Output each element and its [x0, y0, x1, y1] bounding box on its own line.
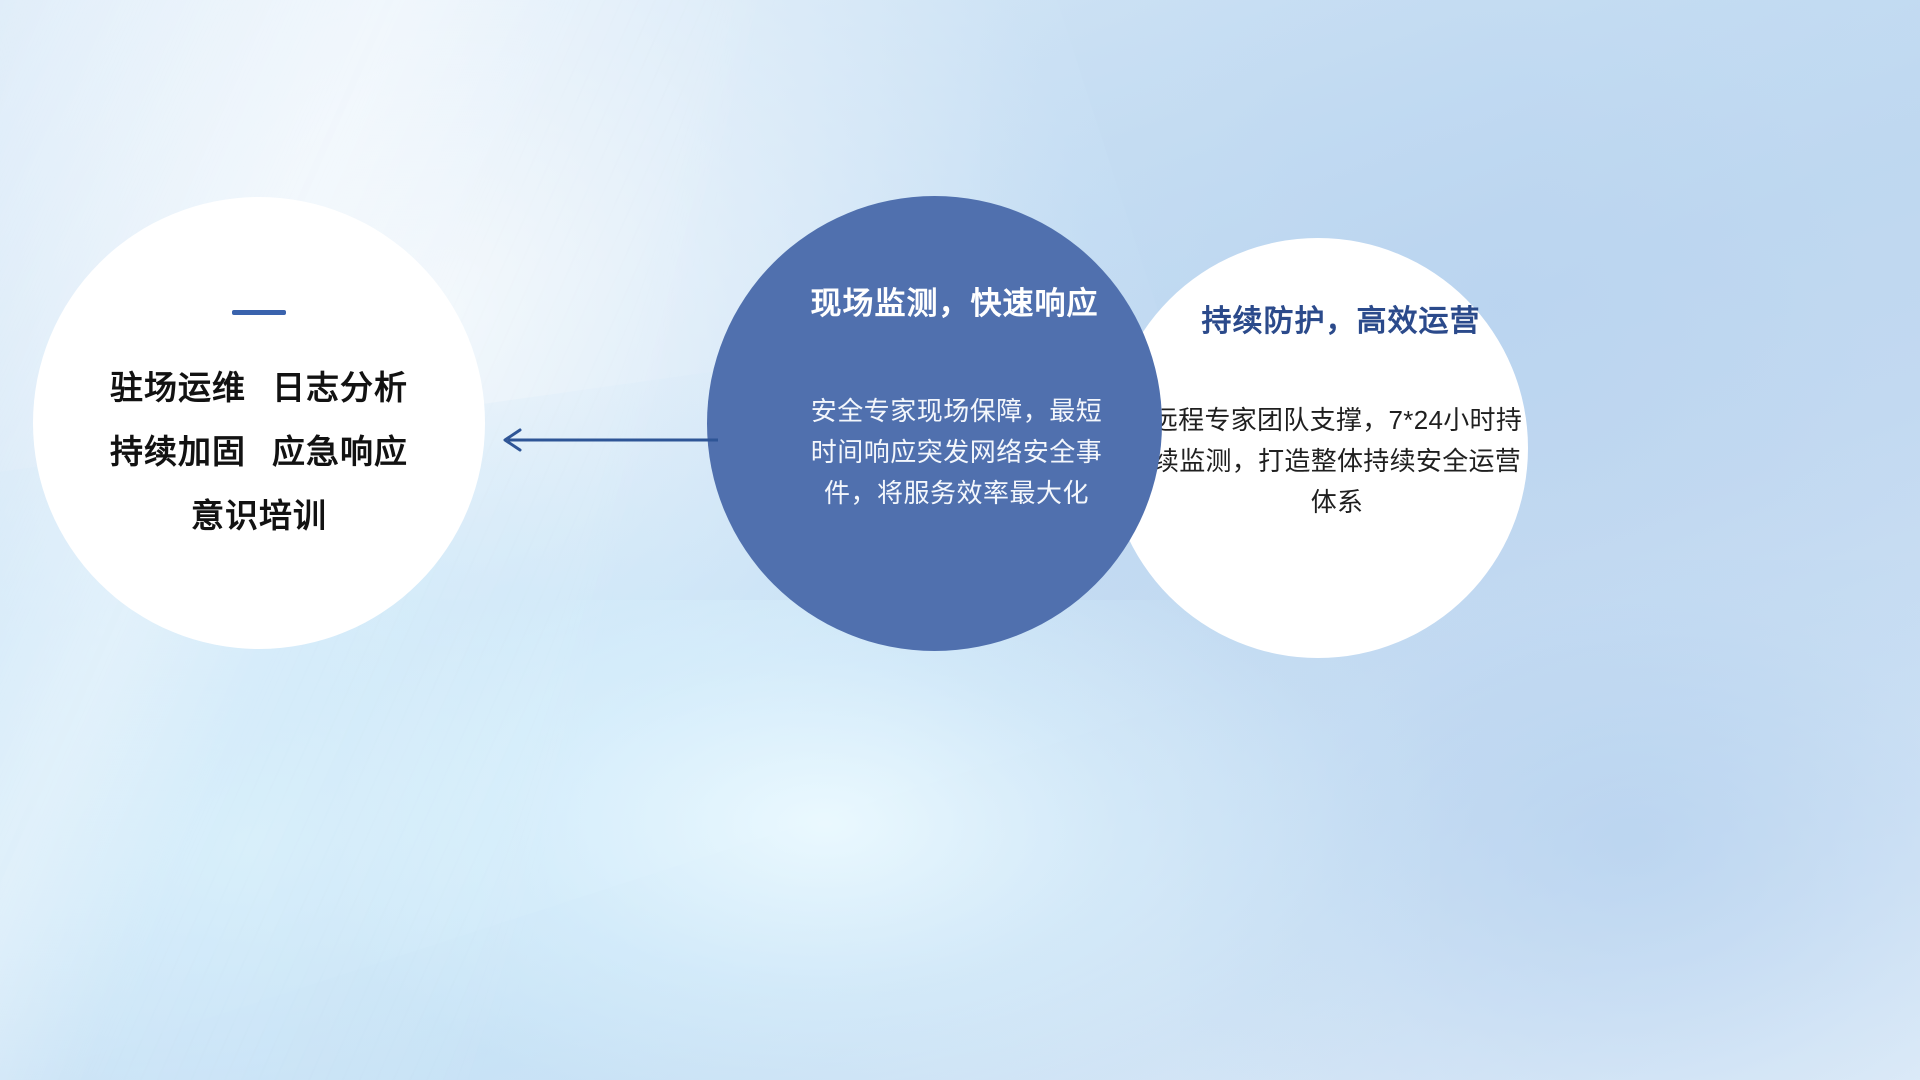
- capability-circle-left[interactable]: 驻场运维日志分析 持续加固应急响应 意识培训: [33, 197, 485, 649]
- circle-right-body: 远程专家团队支撑，7*24小时持续监测，打造整体持续安全运营体系: [1151, 400, 1523, 523]
- divider-dash-icon: [232, 310, 286, 315]
- capability-label: 持续加固: [110, 433, 246, 470]
- circle-middle-title: 现场监测，快速响应: [811, 278, 1099, 323]
- capability-circle-middle[interactable]: 现场监测，快速响应 安全专家现场保障，最短时间响应突发网络安全事件，将服务效率最…: [707, 196, 1162, 651]
- capability-label: 日志分析: [272, 369, 408, 406]
- flow-arrow-icon: [492, 418, 718, 462]
- list-item: 驻场运维日志分析: [110, 361, 408, 409]
- capability-label: 驻场运维: [110, 369, 246, 406]
- list-item: 持续加固应急响应: [110, 425, 408, 473]
- circle-middle-body: 安全专家现场保障，最短时间响应突发网络安全事件，将服务效率最大化: [811, 391, 1103, 514]
- capability-circle-right[interactable]: 持续防护，高效运营 远程专家团队支撑，7*24小时持续监测，打造整体持续安全运营…: [1108, 238, 1528, 658]
- capability-label: 应急响应: [272, 433, 408, 470]
- list-item: 意识培训: [191, 489, 327, 537]
- circle-right-title: 持续防护，高效运营: [1202, 296, 1481, 340]
- capability-list: 驻场运维日志分析 持续加固应急响应 意识培训: [110, 361, 408, 537]
- slide-canvas: 驻场运维日志分析 持续加固应急响应 意识培训 持续防护，高效运营 远程专家团队支…: [0, 0, 1920, 1080]
- capability-label: 意识培训: [191, 497, 327, 534]
